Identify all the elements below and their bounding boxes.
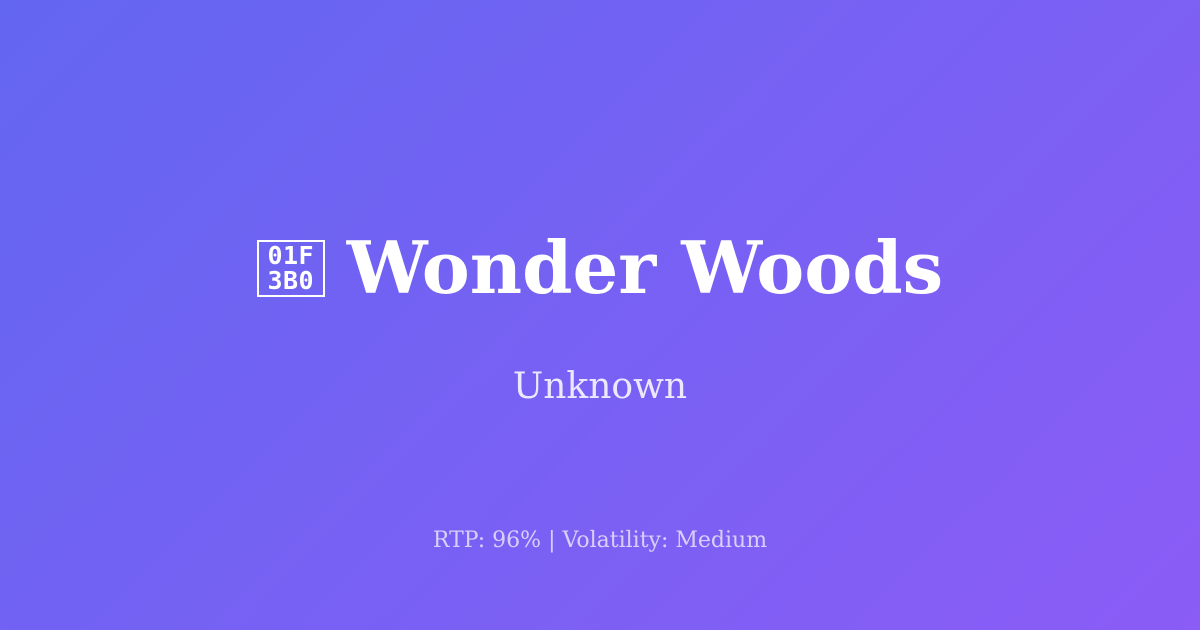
card-content: 01F 3B0 Wonder Woods Unknown RTP: 96% | … [0, 0, 1200, 630]
og-share-card: 01F 3B0 Wonder Woods Unknown RTP: 96% | … [0, 0, 1200, 630]
game-title: Wonder Woods [347, 232, 943, 304]
tofu-codepoint-bottom: 3B0 [267, 268, 314, 293]
game-provider: Unknown [0, 364, 1200, 410]
slot-machine-emoji-icon: 01F 3B0 [257, 240, 325, 297]
tofu-codepoint-top: 01F [267, 243, 314, 268]
title-line: 01F 3B0 Wonder Woods [0, 232, 1200, 304]
game-stats: RTP: 96% | Volatility: Medium [0, 526, 1200, 556]
